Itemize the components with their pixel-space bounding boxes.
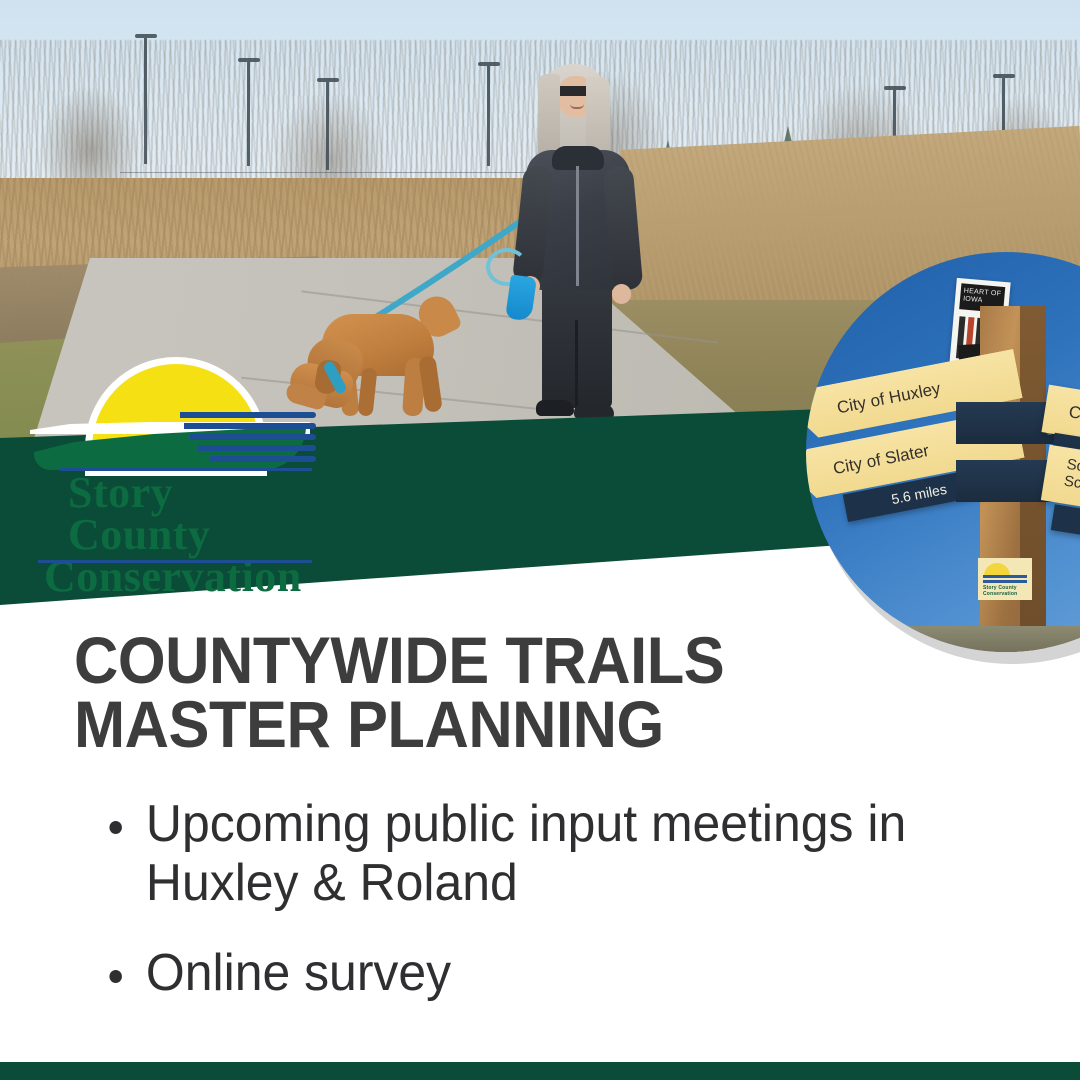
- bullet-dot-icon: [109, 970, 121, 983]
- headline-line-1: COUNTYWIDE TRAILS: [74, 623, 724, 697]
- light-pole: [247, 58, 250, 166]
- story-county-conservation-logo: Story County Conservation: [30, 360, 320, 572]
- decal-text: Story County Conservation: [983, 585, 1017, 597]
- list-item: Online survey: [96, 944, 1018, 1003]
- decal-line2: Conservation: [983, 591, 1017, 597]
- person-walking: [512, 62, 642, 422]
- blue-waste-bag: [505, 274, 537, 321]
- logo-stripe: [180, 412, 316, 418]
- logo-wordmark: Story County Conservation: [36, 472, 320, 599]
- sign-destination: City of Huxley: [835, 379, 942, 419]
- list-item-label: Upcoming public input meetings in Huxley…: [146, 795, 906, 912]
- hand-right: [612, 284, 631, 304]
- bullet-list: Upcoming public input meetings in Huxley…: [96, 795, 1056, 1033]
- bottom-brand-bar: [0, 1062, 1080, 1080]
- bullet-dot-icon: [109, 821, 121, 834]
- light-pole: [144, 34, 147, 164]
- shoe-left: [536, 400, 574, 416]
- headline-line-2: MASTER PLANNING: [74, 692, 911, 756]
- list-item-label: Online survey: [146, 944, 451, 1002]
- poster-canvas: HEART OF IOWA City of Huxley City of Sla…: [0, 0, 1080, 1080]
- logo-line-1: Story County: [36, 472, 320, 556]
- logo-bottom-rule: [38, 560, 312, 563]
- light-pole: [326, 78, 329, 170]
- sign-destination: City of Camb: [1067, 402, 1080, 437]
- logo-stripe: [210, 456, 316, 462]
- logo-stripe: [190, 434, 316, 440]
- logo-water-stripes-icon: [180, 412, 322, 468]
- circle-inset-photo: HEART OF IOWA City of Huxley City of Sla…: [806, 252, 1080, 652]
- sign-destination: City of Slater: [831, 441, 930, 479]
- light-pole: [487, 62, 490, 166]
- decal-wave: [983, 580, 1027, 583]
- logo-stripe: [198, 445, 316, 451]
- pant-seam: [575, 320, 578, 410]
- signpost-scc-decal: Story County Conservation: [978, 558, 1032, 600]
- page-title: COUNTYWIDE TRAILS MASTER PLANNING: [74, 628, 911, 756]
- topper-label: HEART OF IOWA: [963, 288, 1005, 308]
- decal-wave: [983, 575, 1027, 578]
- logo-stripe: [184, 423, 316, 429]
- list-item: Upcoming public input meetings in Huxley…: [96, 795, 1018, 914]
- coat-zipper: [576, 166, 579, 286]
